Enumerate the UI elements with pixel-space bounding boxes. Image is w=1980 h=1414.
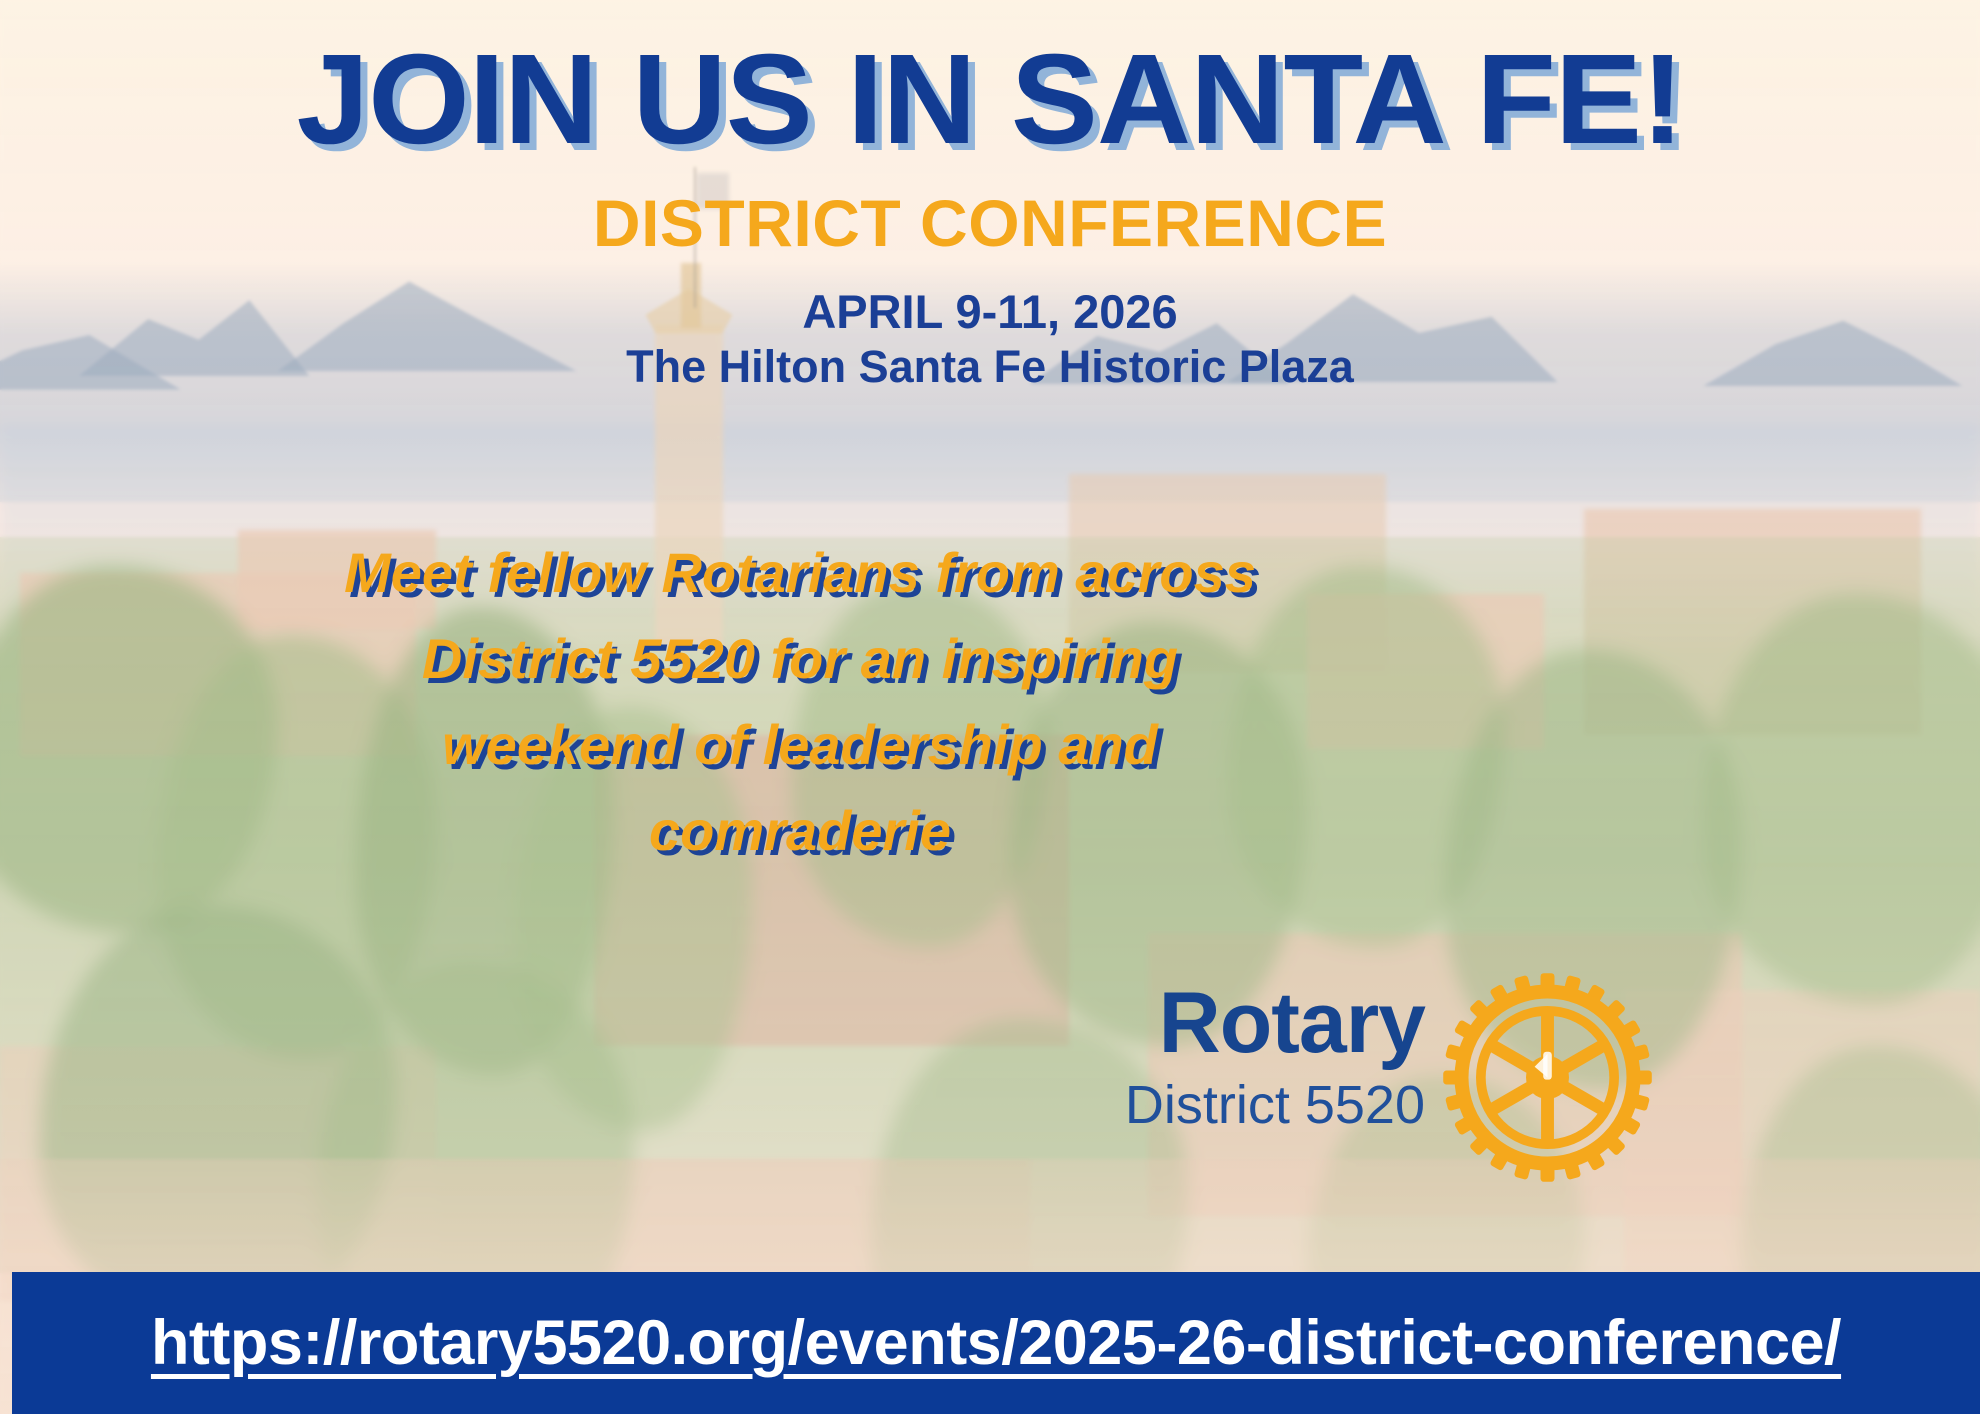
description-line: weekend of leadership and — [300, 702, 1300, 788]
description-line: Meet fellow Rotarians from across — [300, 530, 1300, 616]
event-description: Meet fellow Rotarians from across Distri… — [300, 530, 1300, 874]
description-line: comraderie — [300, 788, 1300, 874]
flyer-content: JOIN US IN SANTA FE! DISTRICT CONFERENCE… — [0, 0, 1980, 1414]
event-url-link[interactable]: https://rotary5520.org/events/2025-26-di… — [151, 1307, 1841, 1379]
rotary-wordmark: Rotary — [1095, 980, 1425, 1066]
rotary-wheel-icon — [1440, 970, 1655, 1185]
flyer-poster: JOIN US IN SANTA FE! DISTRICT CONFERENCE… — [0, 0, 1980, 1414]
url-banner[interactable]: https://rotary5520.org/events/2025-26-di… — [12, 1272, 1980, 1414]
event-date: APRIL 9-11, 2026 — [0, 288, 1980, 335]
description-line: District 5520 for an inspiring — [300, 616, 1300, 702]
subheadline: DISTRICT CONFERENCE — [0, 190, 1980, 256]
page-title: JOIN US IN SANTA FE! — [0, 36, 1980, 164]
rotary-logo: Rotary District 5520 — [1095, 980, 1655, 1180]
rotary-district-label: District 5520 — [1065, 1078, 1425, 1132]
event-venue: The Hilton Santa Fe Historic Plaza — [0, 344, 1980, 389]
